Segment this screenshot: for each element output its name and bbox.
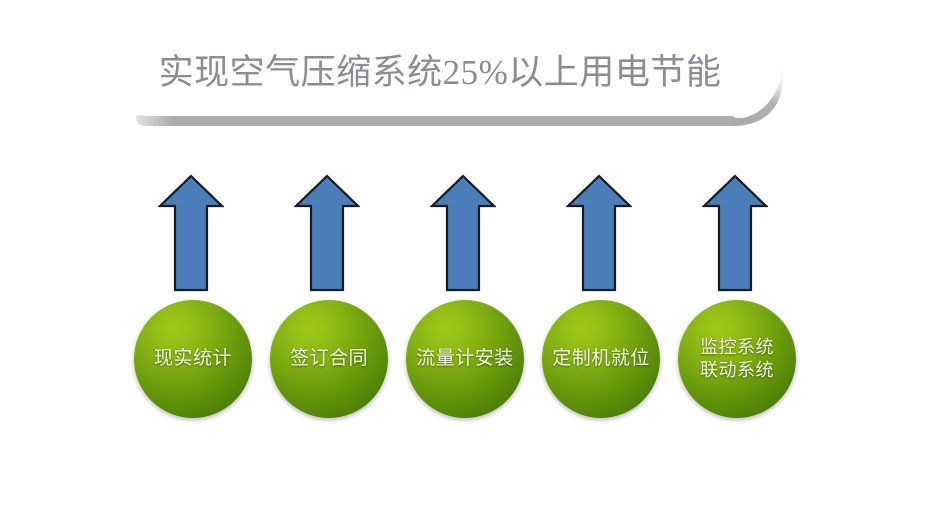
step-sphere: 定制机就位 [542, 300, 660, 418]
up-arrow-icon [702, 174, 768, 292]
step-sphere: 监控系统 联动系统 [678, 300, 796, 418]
step-sphere: 签订合同 [270, 300, 388, 418]
slide-canvas: 实现空气压缩系统25%以上用电节能 现实统计 签订合同 流量计安装 定制机 [0, 0, 945, 529]
page-title: 实现空气压缩系统25%以上用电节能 [120, 51, 760, 95]
step-label: 签订合同 [284, 347, 374, 371]
step-label: 流量计安装 [410, 347, 520, 371]
step-label: 现实统计 [148, 347, 238, 371]
step-label: 定制机就位 [546, 347, 656, 371]
up-arrow-icon [294, 174, 360, 292]
up-arrow-icon [566, 174, 632, 292]
step-label: 监控系统 联动系统 [694, 336, 780, 382]
title-banner: 实现空气压缩系统25%以上用电节能 [120, 40, 800, 140]
step-sphere: 现实统计 [134, 300, 252, 418]
up-arrow-icon [430, 174, 496, 292]
up-arrow-icon [158, 174, 224, 292]
step-sphere: 流量计安装 [406, 300, 524, 418]
